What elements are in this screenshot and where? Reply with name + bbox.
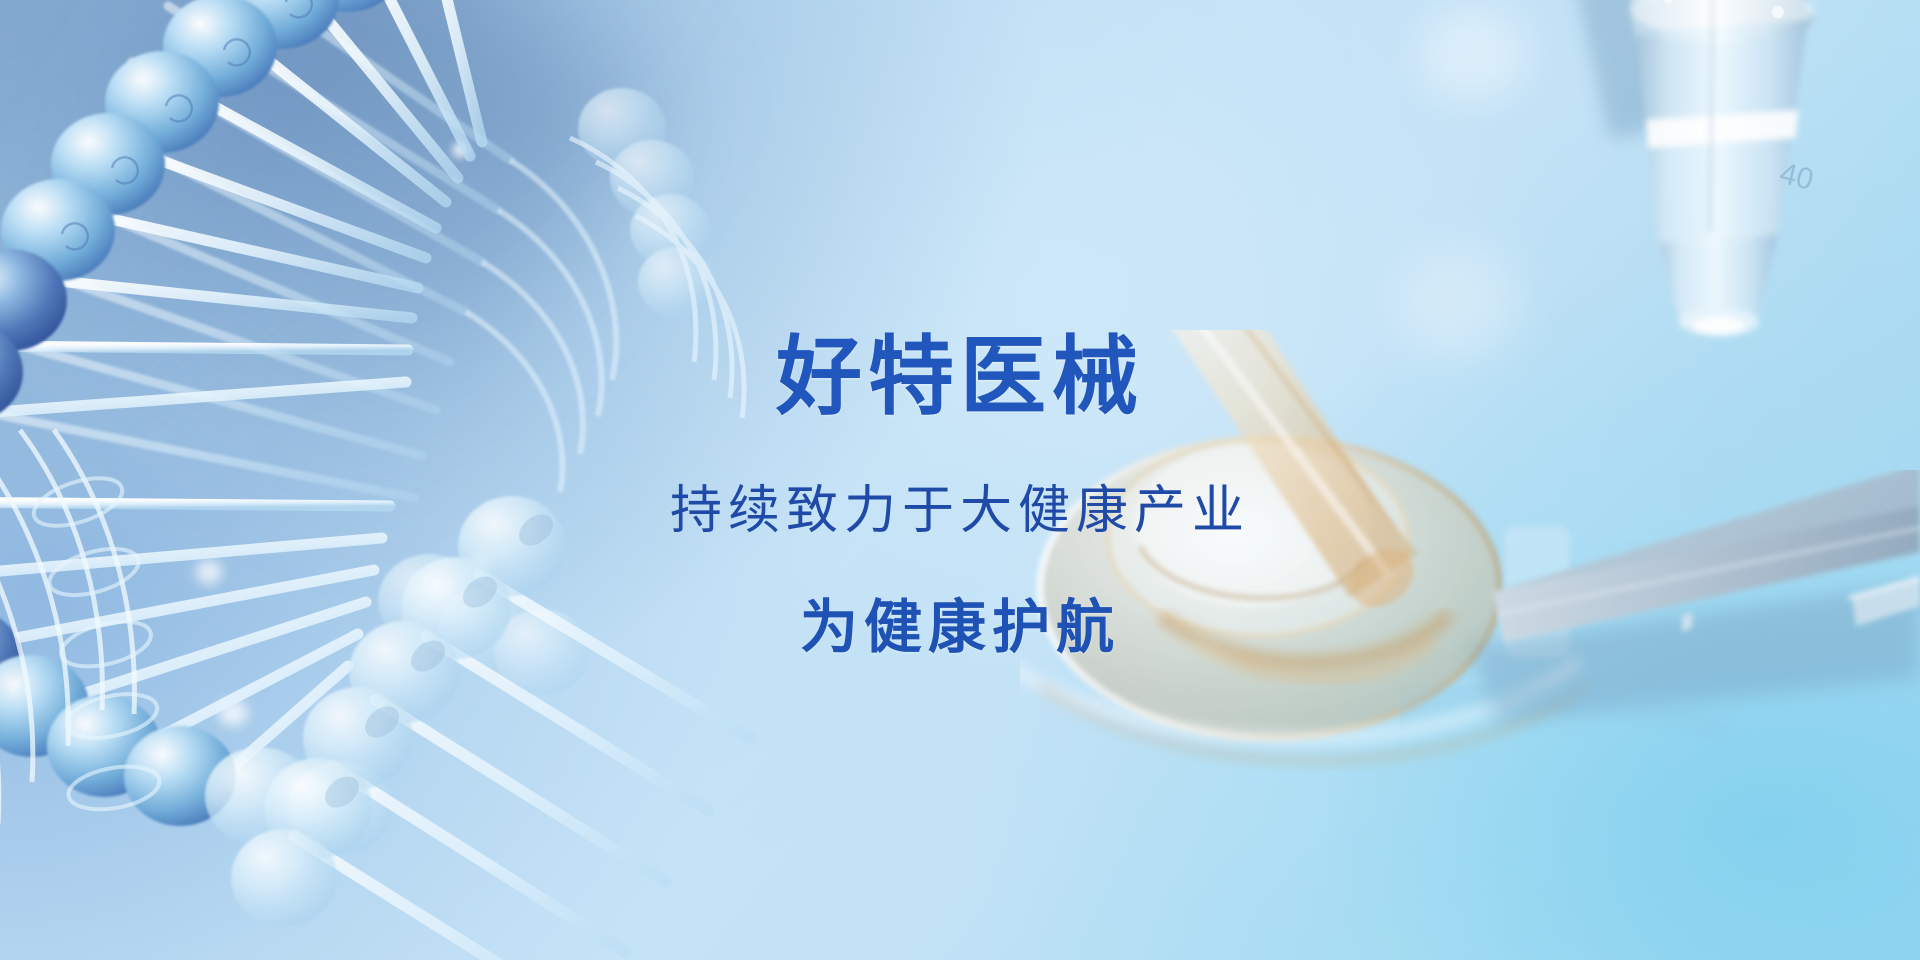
hero-banner: 40 <box>0 0 1920 960</box>
bokeh-dot <box>18 292 52 320</box>
bokeh-dot <box>1418 6 1528 102</box>
page-title: 好特医械 <box>0 330 1920 425</box>
bokeh-dot <box>452 142 468 158</box>
bokeh-dot <box>218 700 248 726</box>
hero-copy: 好特医械 持续致力于大健康产业 为健康护航 <box>0 330 1920 660</box>
hero-tagline: 为健康护航 <box>0 596 1920 660</box>
hero-subtitle: 持续致力于大健康产业 <box>0 483 1920 540</box>
